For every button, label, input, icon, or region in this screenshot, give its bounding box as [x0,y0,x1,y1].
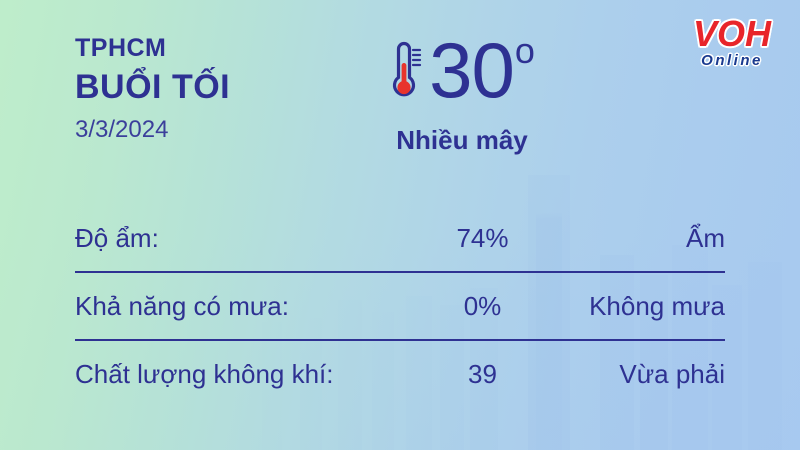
temperature-value: 30 [429,33,514,107]
temperature-row: 30o [352,33,572,121]
degree-symbol: o [515,33,535,69]
widget-content: VOH Online TPHCM BUỔI TỐI 3/3/2024 [0,0,800,450]
detail-label: Khả năng có mưa: [75,291,410,322]
weather-widget: VOH Online TPHCM BUỔI TỐI 3/3/2024 [0,0,800,450]
weather-condition: Nhiều mây [352,125,572,156]
logo-voh-text: VOH [680,16,784,52]
table-row: Độ ẩm: 74% Ẩm [75,205,725,271]
detail-status: Vừa phải [555,359,725,390]
daypart-label: BUỔI TỐI [75,70,230,104]
location-header: TPHCM BUỔI TỐI 3/3/2024 [75,36,230,142]
forecast-date: 3/3/2024 [75,118,230,142]
temperature-block: 30o Nhiều mây [352,33,572,156]
table-row: Chất lượng không khí: 39 Vừa phải [75,339,725,407]
detail-status: Ẩm [555,223,725,254]
weather-details-table: Độ ẩm: 74% Ẩm Khả năng có mưa: 0% Không … [75,205,725,407]
logo-online-text: Online [680,53,784,68]
detail-status: Không mưa [555,291,725,322]
detail-value: 0% [410,291,555,322]
detail-label: Độ ẩm: [75,223,410,254]
detail-value: 74% [410,223,555,254]
detail-value: 39 [410,359,555,390]
voh-online-logo[interactable]: VOH Online [680,16,784,68]
city-name: TPHCM [75,36,230,61]
detail-label: Chất lượng không khí: [75,359,410,390]
thermometer-icon [389,41,423,108]
table-row: Khả năng có mưa: 0% Không mưa [75,271,725,339]
